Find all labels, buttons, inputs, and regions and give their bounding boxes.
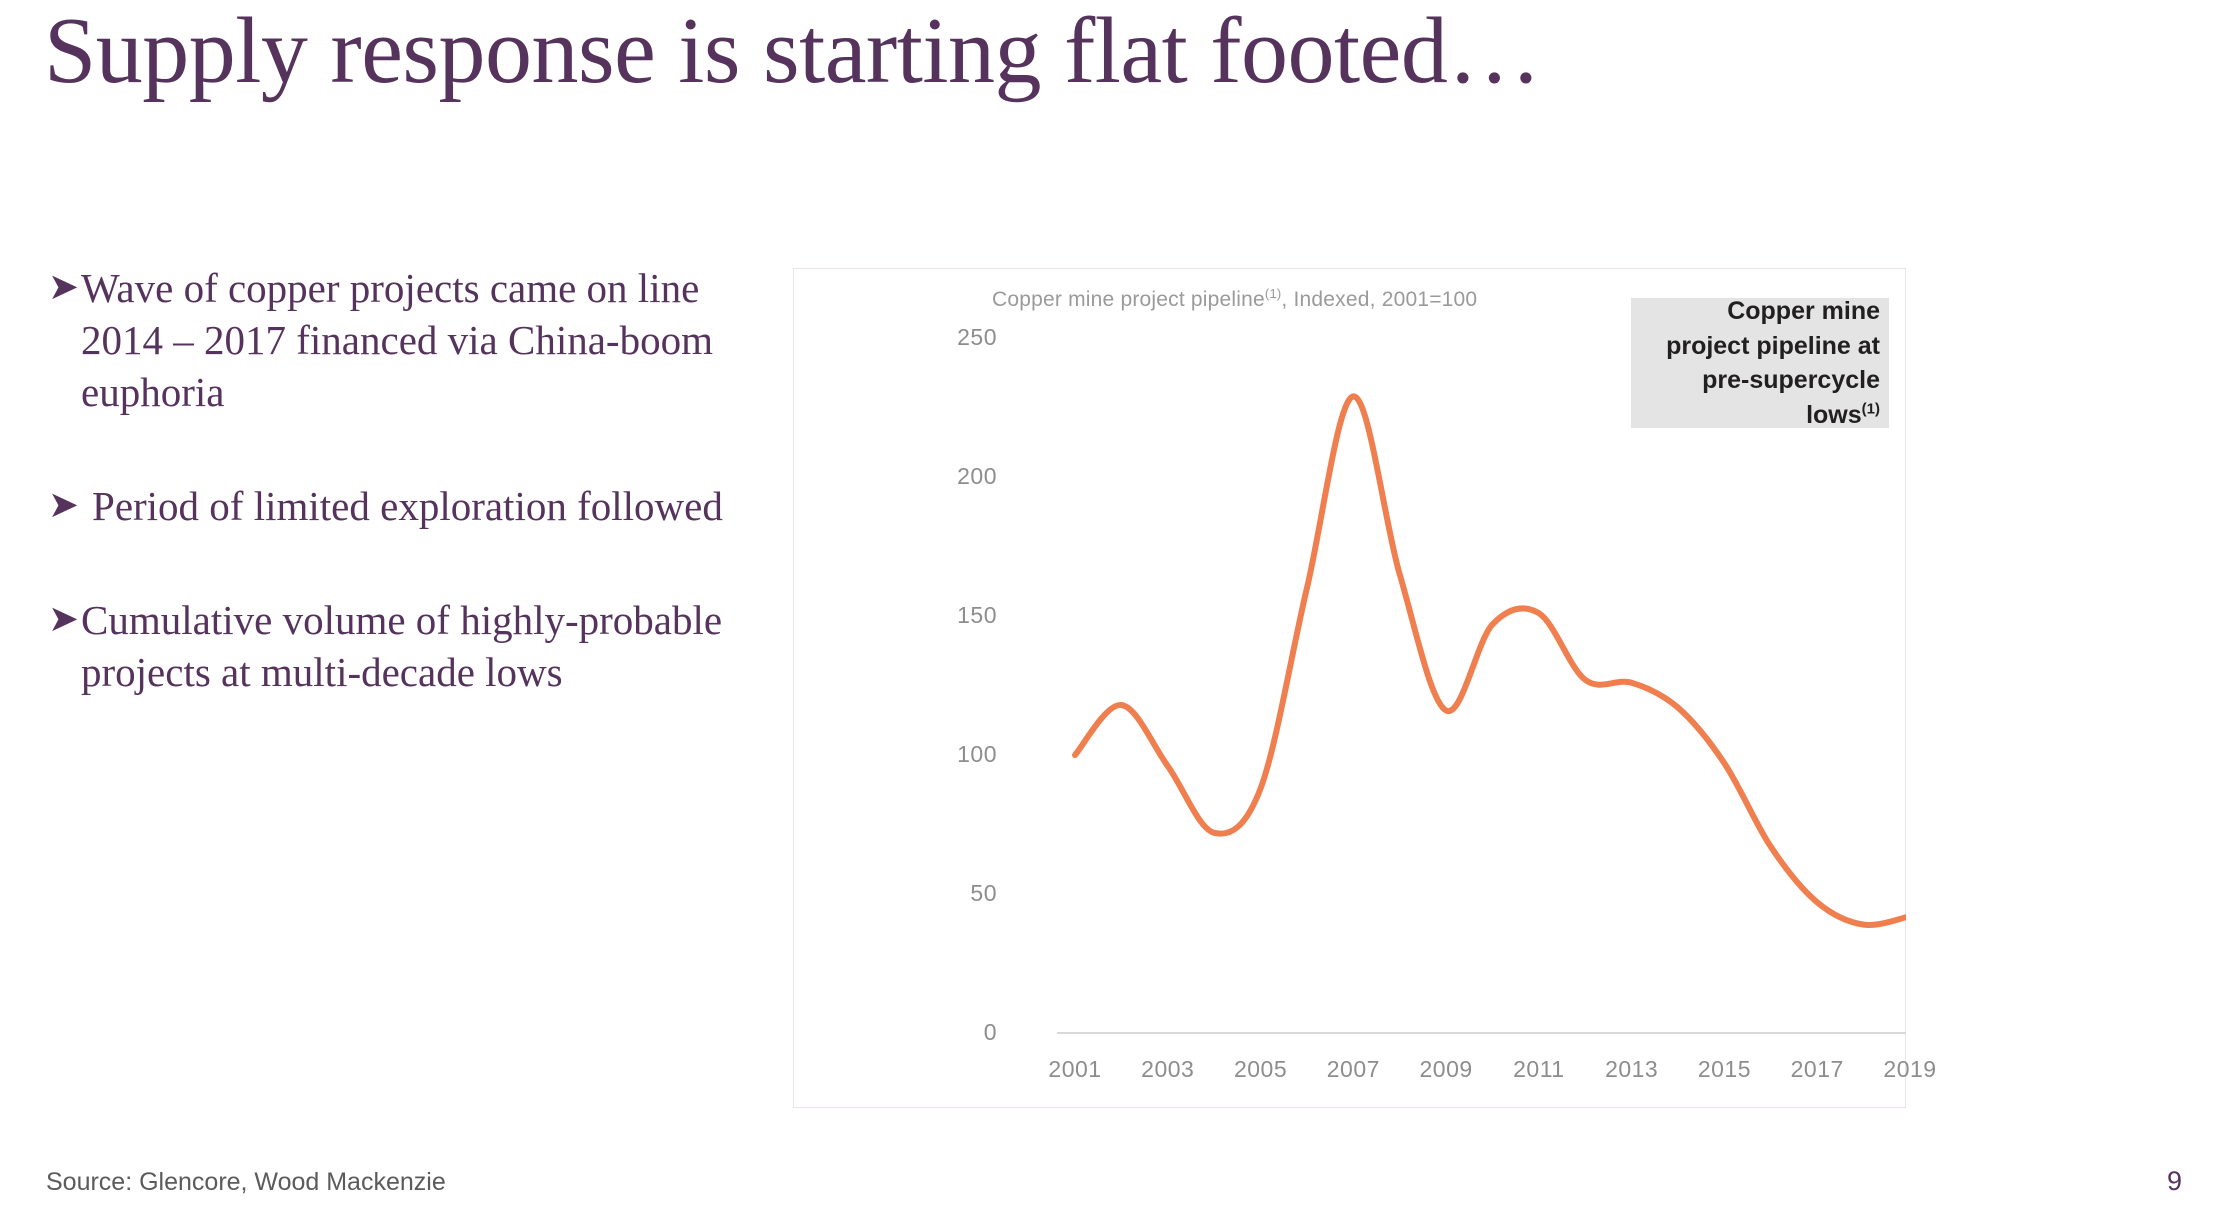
- page-number: 9: [2167, 1166, 2182, 1197]
- bullet-item-3: ➤ Cumulative volume of highly-probable p…: [48, 594, 748, 698]
- arrow-bullet-icon: ➤: [48, 262, 81, 314]
- callout-footnote: (1): [1862, 400, 1880, 417]
- callout-line-3: pre-supercycle: [1702, 366, 1880, 394]
- callout-text: Copper mine project pipeline at pre-supe…: [1666, 294, 1889, 432]
- arrow-bullet-icon: ➤: [48, 594, 81, 646]
- source-note: Source: Glencore, Wood Mackenzie: [46, 1168, 446, 1197]
- callout-line-2: project pipeline at: [1666, 332, 1880, 360]
- bullet-item-2: ➤ Period of limited exploration followed: [48, 480, 748, 532]
- arrow-bullet-icon: ➤: [48, 480, 92, 532]
- bullet-text-3: Cumulative volume of highly-probable pro…: [81, 594, 748, 698]
- bullet-item-1: ➤ Wave of copper projects came on line 2…: [48, 262, 748, 418]
- bullet-list: ➤ Wave of copper projects came on line 2…: [48, 262, 748, 698]
- chart-caption: Copper mine project pipeline(1), Indexed…: [992, 286, 1477, 312]
- bullet-text-2: Period of limited exploration followed: [92, 480, 748, 532]
- page-title: Supply response is starting flat footed…: [44, 2, 1944, 101]
- callout-box: Copper mine project pipeline at pre-supe…: [1631, 298, 1889, 428]
- chart-caption-footnote: (1): [1265, 286, 1282, 301]
- chart-caption-title: Copper mine project pipeline: [992, 288, 1265, 311]
- callout-line-4: lows: [1806, 401, 1862, 429]
- callout-line-1: Copper mine: [1727, 297, 1880, 325]
- bullet-text-1: Wave of copper projects came on line 201…: [81, 262, 748, 418]
- chart-caption-suffix: , Indexed, 2001=100: [1281, 288, 1477, 311]
